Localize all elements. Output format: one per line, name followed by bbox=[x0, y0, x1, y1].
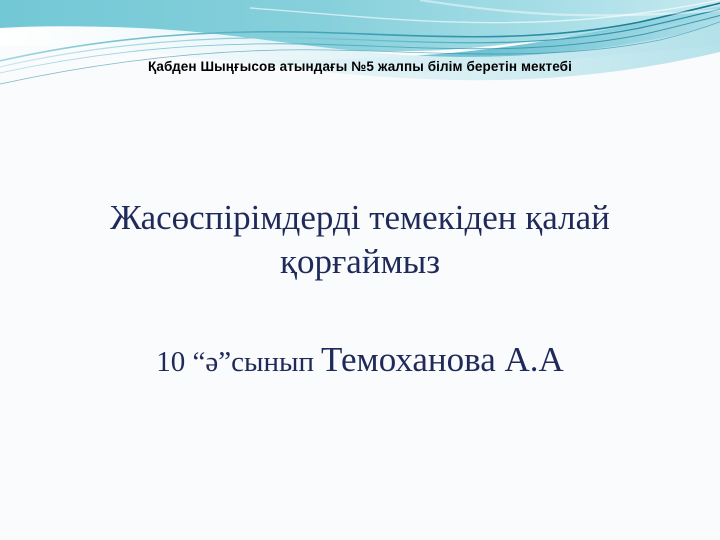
teal-wave-banner bbox=[0, 0, 720, 95]
subtitle-block: 10 “ә”сыныпТемоханова А.А bbox=[45, 340, 675, 382]
title-line-2: қорғаймыз bbox=[280, 242, 440, 281]
title-line-1: Жасөспірімдерді темекіден қалай bbox=[110, 198, 610, 237]
presentation-slide: Қабден Шыңғысов атындағы №5 жалпы білім … bbox=[0, 0, 720, 540]
subtitle-class: 10 “ә”сынып bbox=[156, 346, 314, 378]
accent-line-1 bbox=[0, 2, 720, 62]
page-title: Жасөспірімдерді темекіден қалай қорғаймы… bbox=[45, 196, 675, 284]
title-block: Жасөспірімдерді темекіден қалай қорғаймы… bbox=[45, 196, 675, 284]
wave-band-primary bbox=[0, 0, 720, 51]
wave-graphic bbox=[0, 0, 720, 95]
subtitle-author: Темоханова А.А bbox=[314, 340, 564, 379]
accent-line-6 bbox=[420, 0, 720, 15]
school-name-header: Қабден Шыңғысов атындағы №5 жалпы білім … bbox=[0, 58, 720, 75]
accent-line-5 bbox=[250, 0, 720, 23]
